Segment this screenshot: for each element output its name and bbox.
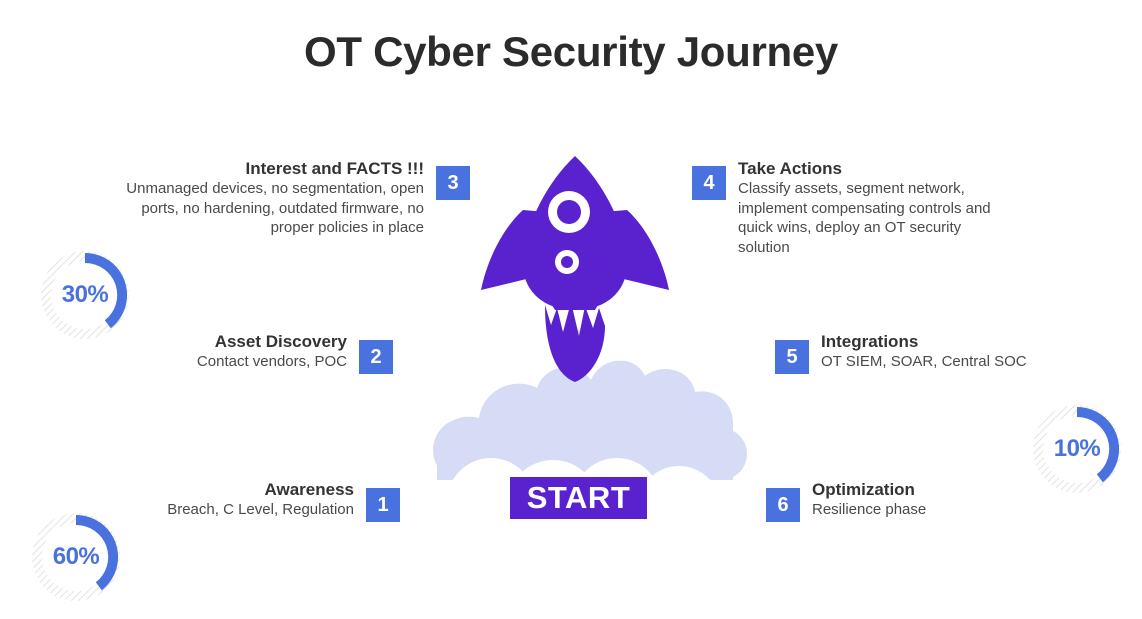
step-6-title: Optimization	[812, 479, 926, 500]
step-1[interactable]: Awareness Breach, C Level, Regulation 1	[125, 479, 400, 522]
step-2[interactable]: Asset Discovery Contact vendors, POC 2	[150, 331, 393, 374]
step-2-desc: Contact vendors, POC	[197, 352, 347, 372]
step-6[interactable]: 6 Optimization Resilience phase	[766, 479, 926, 522]
step-5[interactable]: 5 Integrations OT SIEM, SOAR, Central SO…	[775, 331, 1027, 374]
step-2-text: Asset Discovery Contact vendors, POC	[197, 331, 359, 372]
step-5-title: Integrations	[821, 331, 1027, 352]
step-6-badge[interactable]: 6	[766, 488, 800, 522]
start-button[interactable]: START	[510, 477, 647, 519]
step-5-text: Integrations OT SIEM, SOAR, Central SOC	[809, 331, 1027, 372]
rocket-window-small-inner	[561, 256, 573, 268]
gauge-10-svg	[1029, 401, 1125, 497]
gauge-60-svg	[28, 509, 124, 605]
step-5-badge[interactable]: 5	[775, 340, 809, 374]
step-1-desc: Breach, C Level, Regulation	[167, 500, 354, 520]
step-3-title: Interest and FACTS !!!	[122, 158, 424, 179]
step-6-text: Optimization Resilience phase	[800, 479, 926, 520]
rocket-body	[523, 156, 627, 310]
step-6-desc: Resilience phase	[812, 500, 926, 520]
step-1-title: Awareness	[167, 479, 354, 500]
gauge-10-percent: 10%	[1029, 401, 1125, 497]
step-3-text: Interest and FACTS !!! Unmanaged devices…	[122, 158, 436, 238]
step-2-badge[interactable]: 2	[359, 340, 393, 374]
step-5-desc: OT SIEM, SOAR, Central SOC	[821, 352, 1027, 372]
rocket-window-large-inner	[557, 200, 581, 224]
page-title: OT Cyber Security Journey	[0, 28, 1142, 76]
step-1-text: Awareness Breach, C Level, Regulation	[167, 479, 366, 520]
infographic-canvas: OT Cyber Security Journey 30%	[0, 0, 1142, 619]
gauge-30-svg	[37, 247, 133, 343]
step-4-title: Take Actions	[738, 158, 1010, 179]
step-4-text: Take Actions Classify assets, segment ne…	[726, 158, 1010, 257]
step-2-title: Asset Discovery	[197, 331, 347, 352]
gauge-60-percent: 60%	[28, 509, 124, 605]
step-4-desc: Classify assets, segment network, implem…	[738, 179, 1010, 257]
gauge-30-percent: 30%	[37, 247, 133, 343]
step-3-desc: Unmanaged devices, no segmentation, open…	[122, 179, 424, 238]
